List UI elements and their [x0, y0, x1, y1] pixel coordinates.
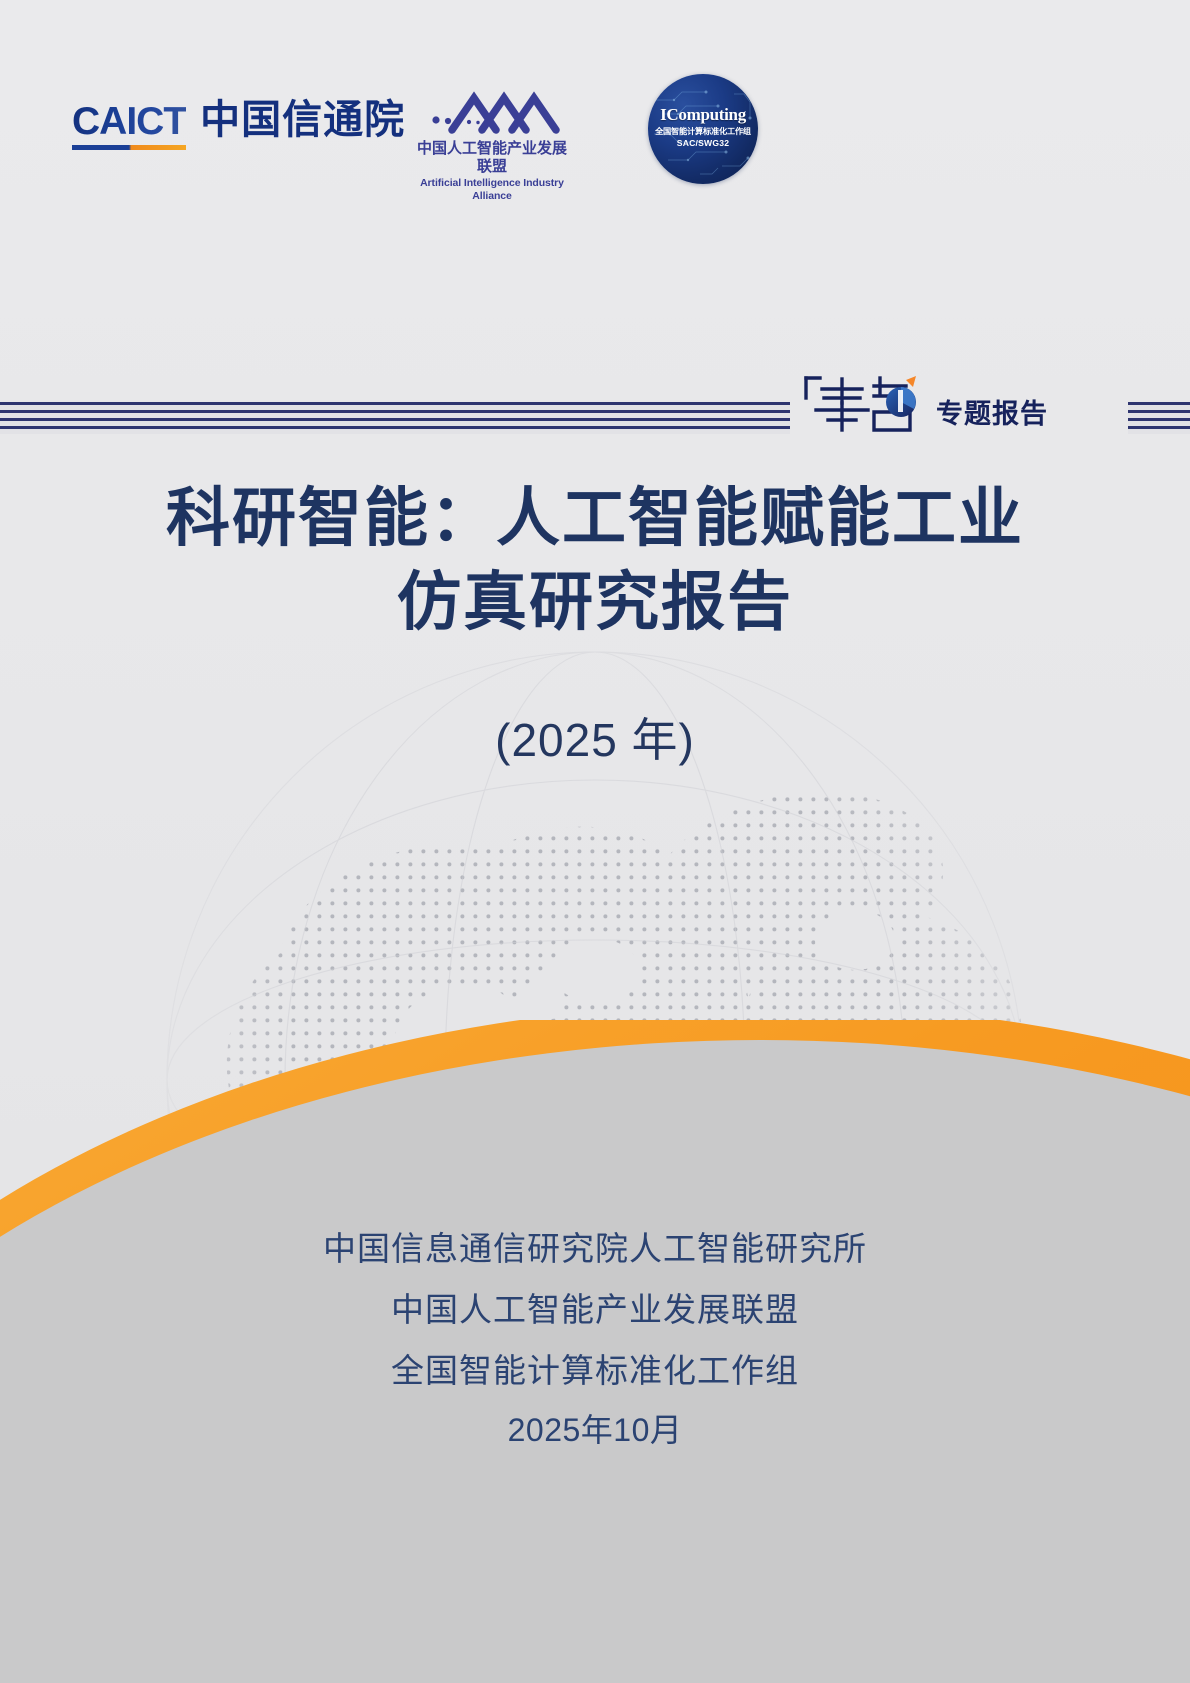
- icomputing-logo: IComputing 全国智能计算标准化工作组 SAC/SWG32: [648, 74, 758, 184]
- banner-stripes-right: [1128, 402, 1190, 434]
- icomputing-text-group: IComputing 全国智能计算标准化工作组 SAC/SWG32: [648, 106, 758, 148]
- globe-dot-graphic: [95, 640, 1095, 1640]
- icomputing-title: IComputing: [648, 106, 758, 123]
- caict-chinese-name: 中国信通院: [200, 100, 405, 150]
- aiia-mountain-icon: [412, 86, 572, 134]
- title-subtitle-year: (2025 年): [0, 704, 1190, 770]
- publisher-org-2: 中国人工智能产业发展联盟: [0, 1279, 1190, 1340]
- aiia-english-name: Artificial Intelligence Industry Allianc…: [412, 177, 572, 202]
- title-line-1: 科研智能：人工智能赋能工业: [0, 476, 1190, 560]
- title-line-2: 仿真研究报告: [0, 560, 1190, 644]
- publication-date: 2025年10月: [0, 1401, 1190, 1460]
- icomputing-chinese-name: 全国智能计算标准化工作组: [648, 128, 758, 136]
- caict-wordmark: CAICT: [72, 102, 186, 141]
- aiia-logo: 中国人工智能产业发展联盟 Artificial Intelligence Ind…: [412, 86, 572, 202]
- jizhi-logo-mark: [800, 372, 924, 434]
- icomputing-code: SAC/SWG32: [648, 139, 758, 148]
- report-banner: 专题报告: [0, 372, 1190, 434]
- jizhi-glyph-icon: [800, 372, 924, 434]
- publisher-block: 中国信息通信研究院人工智能研究所 中国人工智能产业发展联盟 全国智能计算标准化工…: [0, 1218, 1190, 1460]
- globe-icon: [95, 640, 1095, 1640]
- page-title: 科研智能：人工智能赋能工业 仿真研究报告: [0, 476, 1190, 645]
- caict-wordmark-wrap: CAICT: [72, 102, 186, 150]
- banner-stripes-left: [0, 402, 790, 434]
- report-cover-page: CAICT 中国信通院 中国人工智能产业发展联: [0, 0, 1190, 1683]
- publisher-org-1: 中国信息通信研究院人工智能研究所: [0, 1218, 1190, 1279]
- caict-underline-accent: [72, 145, 186, 150]
- report-type-label: 专题报告: [936, 401, 1048, 434]
- jizhi-brand: 专题报告: [800, 372, 1048, 434]
- aiia-chinese-name: 中国人工智能产业发展联盟: [412, 140, 572, 176]
- logo-row: CAICT 中国信通院 中国人工智能产业发展联: [0, 74, 1190, 184]
- publisher-org-3: 全国智能计算标准化工作组: [0, 1340, 1190, 1401]
- caict-logo: CAICT 中国信通院: [72, 100, 405, 150]
